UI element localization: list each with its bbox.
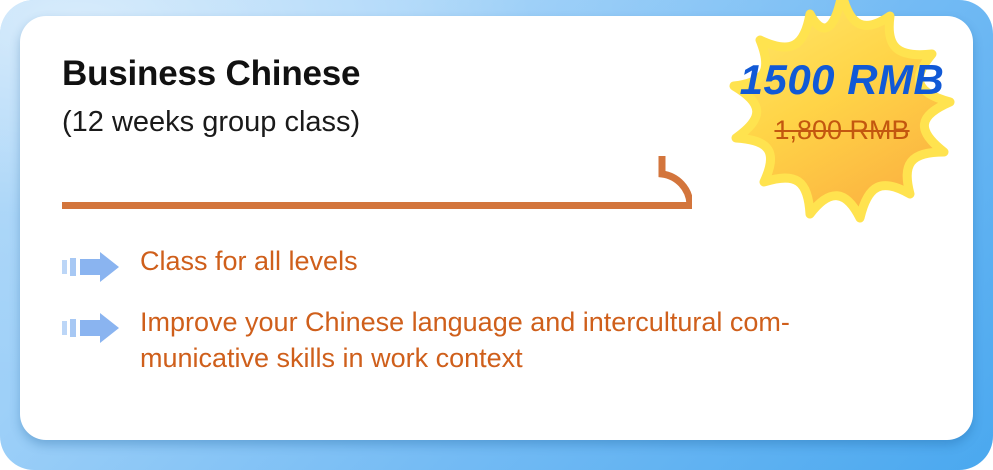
divider	[62, 134, 692, 214]
starburst-icon	[694, 0, 990, 238]
price-badge: 1500 RMB 1,800 RMB	[694, 0, 990, 238]
arrow-right-icon	[62, 251, 120, 283]
list-item: Class for all levels	[62, 244, 942, 283]
page-title: Business Chinese	[62, 54, 360, 94]
feature-text: Improve your Chinese language and interc…	[140, 305, 910, 377]
promo-card-frame: Business Chinese (12 weeks group class)	[0, 0, 993, 470]
arrow-right-icon	[62, 312, 120, 344]
divider-lines-icon	[62, 134, 692, 214]
list-item: Improve your Chinese language and interc…	[62, 305, 942, 377]
feature-text: Class for all levels	[140, 244, 358, 280]
feature-list: Class for all levels Improve your Chines…	[62, 244, 942, 399]
